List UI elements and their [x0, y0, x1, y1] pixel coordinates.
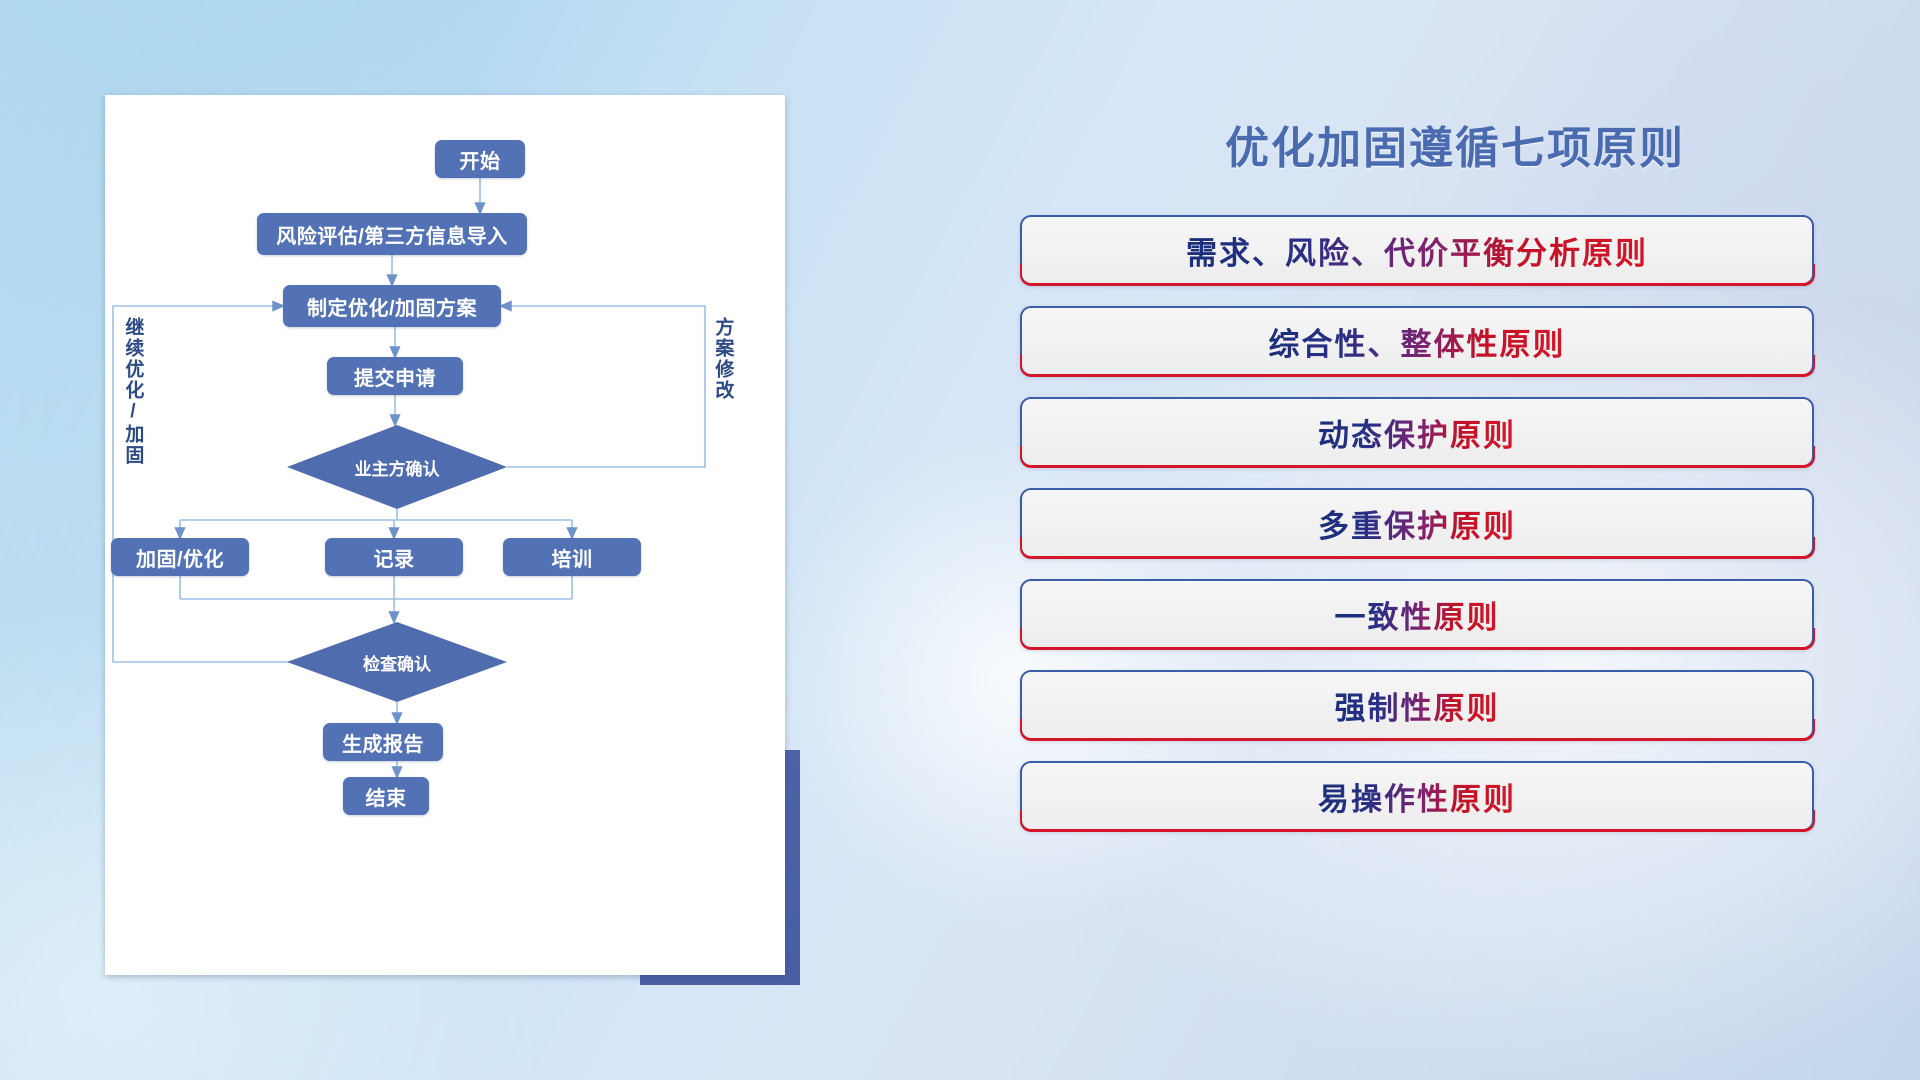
flowchart-panel: 开始 风险评估/第三方信息导入 制定优化/加固方案 提交申请 加固/优化 记录 … [105, 95, 785, 975]
node-training[interactable]: 培训 [503, 538, 641, 576]
node-label: 生成报告 [342, 728, 424, 757]
vertical-label-text: 继续优化/加固 [122, 317, 143, 466]
principle-label: 综合性、整体性原则 [1269, 319, 1566, 364]
node-label: 风险评估/第三方信息导入 [276, 220, 508, 249]
page-title: 优化加固遵循七项原则 [1130, 112, 1780, 176]
node-make-plan[interactable]: 制定优化/加固方案 [283, 285, 501, 327]
node-owner-confirm-label: 业主方确认 [287, 447, 507, 487]
node-reinforce-optimize[interactable]: 加固/优化 [111, 538, 249, 576]
principle-card-5[interactable]: 一致性原则 [1020, 579, 1814, 649]
node-label: 加固/优化 [136, 543, 224, 572]
principle-card-7[interactable]: 易操作性原则 [1020, 761, 1814, 831]
node-record[interactable]: 记录 [325, 538, 463, 576]
node-label: 提交申请 [354, 362, 436, 391]
node-label: 开始 [460, 145, 501, 174]
principle-label: 多重保护原则 [1318, 501, 1516, 546]
node-risk-assessment[interactable]: 风险评估/第三方信息导入 [257, 213, 527, 255]
node-label: 业主方确认 [355, 455, 440, 480]
node-label: 记录 [374, 543, 415, 572]
principle-card-3[interactable]: 动态保护原则 [1020, 397, 1814, 467]
principle-card-6[interactable]: 强制性原则 [1020, 670, 1814, 740]
node-label: 培训 [552, 543, 593, 572]
principle-card-4[interactable]: 多重保护原则 [1020, 488, 1814, 558]
principle-label: 一致性原则 [1335, 592, 1500, 637]
node-label: 结束 [366, 782, 407, 811]
node-generate-report[interactable]: 生成报告 [323, 723, 443, 761]
principle-label: 需求、风险、代价平衡分析原则 [1186, 228, 1648, 273]
vertical-label-text: 方案修改 [712, 317, 733, 401]
node-end[interactable]: 结束 [343, 777, 429, 815]
label-continue-optimize: 继续优化/加固 [123, 317, 142, 466]
node-check-confirm-label: 检查确认 [287, 642, 507, 682]
principle-label: 强制性原则 [1335, 683, 1500, 728]
node-start[interactable]: 开始 [435, 140, 525, 178]
principle-label: 易操作性原则 [1318, 774, 1516, 819]
principles-section: 优化加固遵循七项原则 需求、风险、代价平衡分析原则 综合性、整体性原则 动态保护… [1010, 90, 1840, 1010]
node-label: 检查确认 [363, 650, 431, 675]
principle-label: 动态保护原则 [1318, 410, 1516, 455]
node-submit-application[interactable]: 提交申请 [327, 357, 463, 395]
node-label: 制定优化/加固方案 [307, 292, 477, 321]
principle-card-2[interactable]: 综合性、整体性原则 [1020, 306, 1814, 376]
principle-card-1[interactable]: 需求、风险、代价平衡分析原则 [1020, 215, 1814, 285]
label-revise-plan: 方案修改 [713, 317, 732, 401]
